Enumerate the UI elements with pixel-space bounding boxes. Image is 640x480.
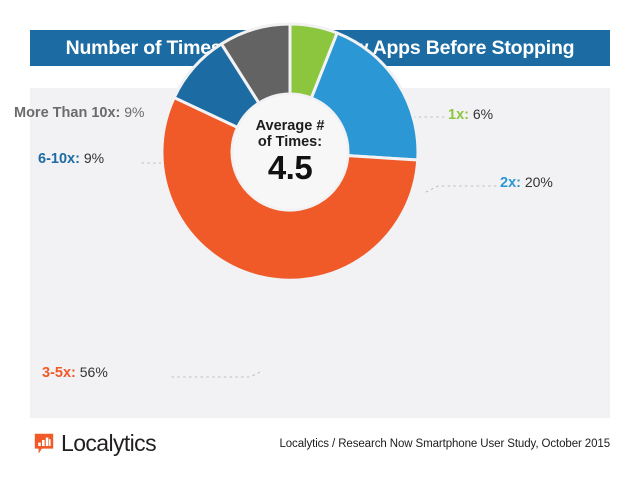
infographic-canvas: Number of Times People Try New Apps Befo… <box>0 0 640 480</box>
callout-1x-value: 6% <box>473 106 493 122</box>
brand-name: Localytics <box>61 430 156 457</box>
source-attribution: Localytics / Research Now Smartphone Use… <box>279 438 610 450</box>
callout-2x-key: 2x: <box>500 175 521 191</box>
brand-logo: Localytics <box>34 430 156 457</box>
callout-1x-key: 1x: <box>448 107 469 123</box>
donut-center-hole <box>233 95 347 209</box>
callout-3-5x: 3-5x: 56% <box>42 364 108 381</box>
callout-6-10x: 6-10x: 9% <box>38 150 104 167</box>
callout-1x: 1x: 6% <box>448 106 493 123</box>
donut-chart-svg <box>160 22 420 282</box>
callout-6-10x-value: 9% <box>84 150 104 166</box>
callout-2x-value: 20% <box>525 174 553 190</box>
footer: Localytics Localytics / Research Now Sma… <box>0 425 640 473</box>
callout-more-than-10x-key: More Than 10x: <box>14 105 120 121</box>
callout-more-than-10x: More Than 10x: 9% <box>14 104 144 121</box>
callout-2x: 2x: 20% <box>500 174 553 191</box>
callout-6-10x-key: 6-10x: <box>38 151 80 167</box>
callout-more-than-10x-value: 9% <box>124 104 144 120</box>
callout-3-5x-value: 56% <box>80 364 108 380</box>
bar-chart-speech-bubble-icon <box>34 433 55 455</box>
callout-3-5x-key: 3-5x: <box>42 365 76 381</box>
donut-chart <box>160 22 420 282</box>
